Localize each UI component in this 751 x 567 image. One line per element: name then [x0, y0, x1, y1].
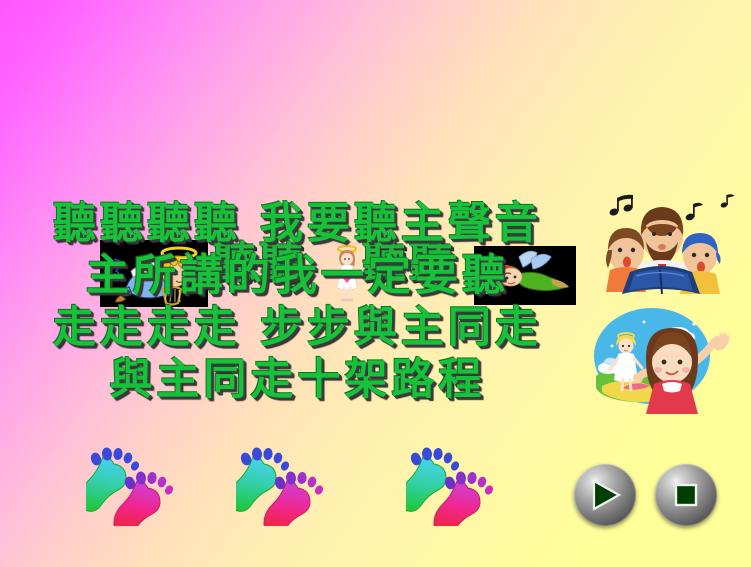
header-row: 聽聽: [0, 118, 751, 192]
girl-waving-with-angel-image: [582, 302, 742, 414]
play-button[interactable]: [574, 464, 636, 526]
footprints-pair: [236, 446, 334, 526]
lyric-line: 走走走走 步步與主同走: [0, 302, 595, 354]
stop-button[interactable]: [655, 464, 717, 526]
stop-square-icon: [666, 475, 706, 515]
footprints-pair: [406, 446, 504, 526]
lyrics-block: 聽聽聽聽 我要聽主聲音 主所講的我一定要聽 走走走走 步步與主同走 與主同走十架…: [0, 198, 595, 406]
play-triangle-icon: [585, 475, 625, 515]
slide-canvas: 聽聽: [0, 0, 751, 567]
footprints-pair: [86, 446, 184, 526]
kids-singing-with-jesus-image: [578, 190, 744, 298]
lyric-line: 聽聽聽聽 我要聽主聲音: [0, 198, 595, 250]
lyric-line: 與主同走十架路程: [0, 354, 595, 406]
lyric-line: 主所講的我一定要聽: [0, 250, 595, 302]
